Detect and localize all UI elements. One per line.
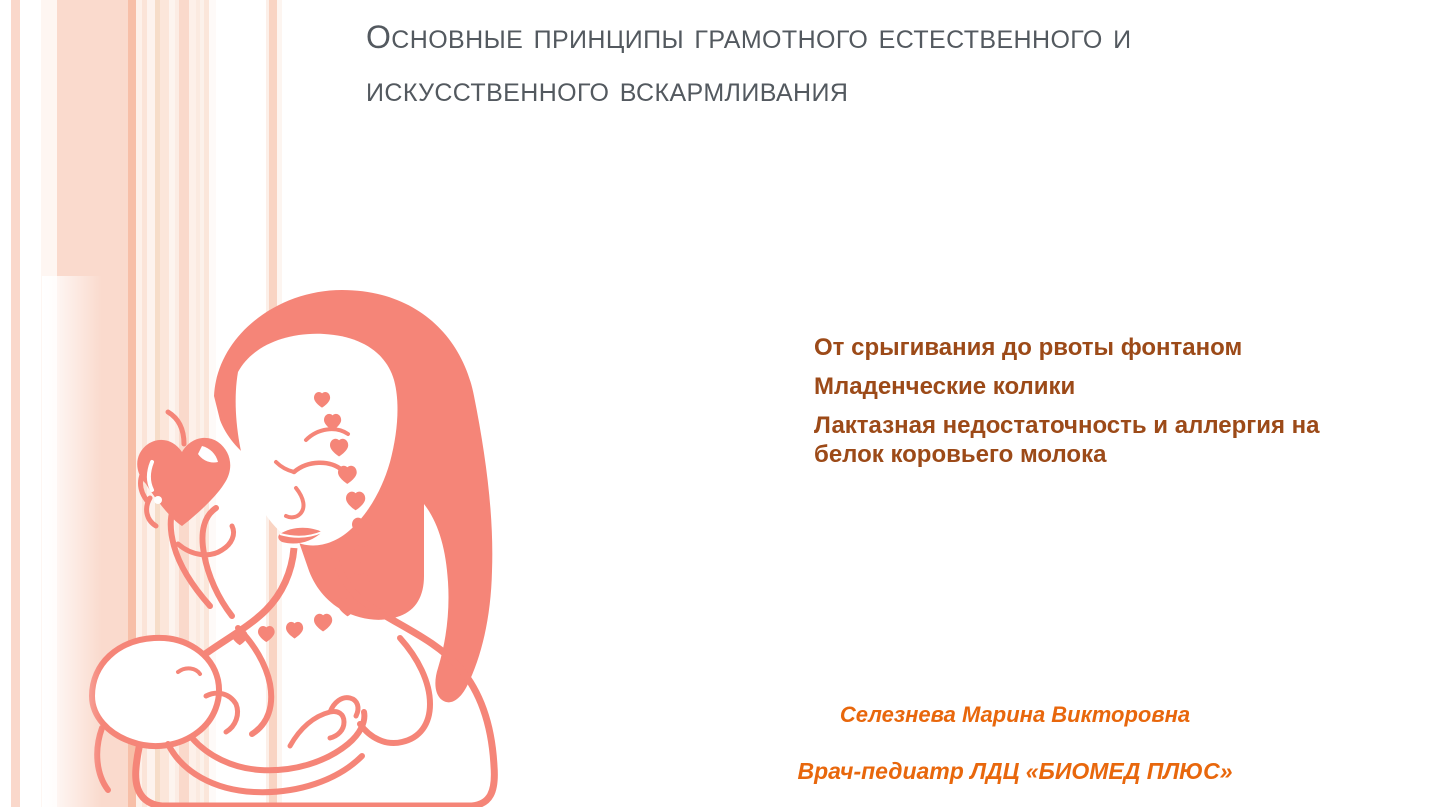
author-block: Селезнева Марина Викторовна Врач-педиатр… [690,700,1340,786]
bullet-item: Лактазная недостаточность и аллергия на … [814,411,1329,469]
breast-left [238,628,271,734]
baby-head [92,638,219,746]
author-name: Селезнева Марина Викторовна [690,700,1340,730]
heart-stem [168,412,184,444]
mother-breastfeeding-baby-illustration [42,276,542,807]
presentation-slide: Основные принципы грамотного естественно… [0,0,1436,807]
baby-hand [290,698,358,746]
slide-title: Основные принципы грамотного естественно… [366,6,1376,115]
artwork-edge-fade [42,276,102,807]
decorative-stripe [11,0,20,807]
bullet-item: Младенческие колики [814,372,1329,401]
bullet-list: От срыгивания до рвоты фонтаном Младенче… [814,333,1329,479]
heart-highlight-dot [154,496,162,504]
author-position: Врач-педиатр ЛДЦ «БИОМЕД ПЛЮС» [690,756,1340,786]
illustration-artwork [92,290,494,806]
bullet-item: От срыгивания до рвоты фонтаном [814,333,1329,362]
breast-right [360,638,430,743]
baby-body [192,712,364,770]
